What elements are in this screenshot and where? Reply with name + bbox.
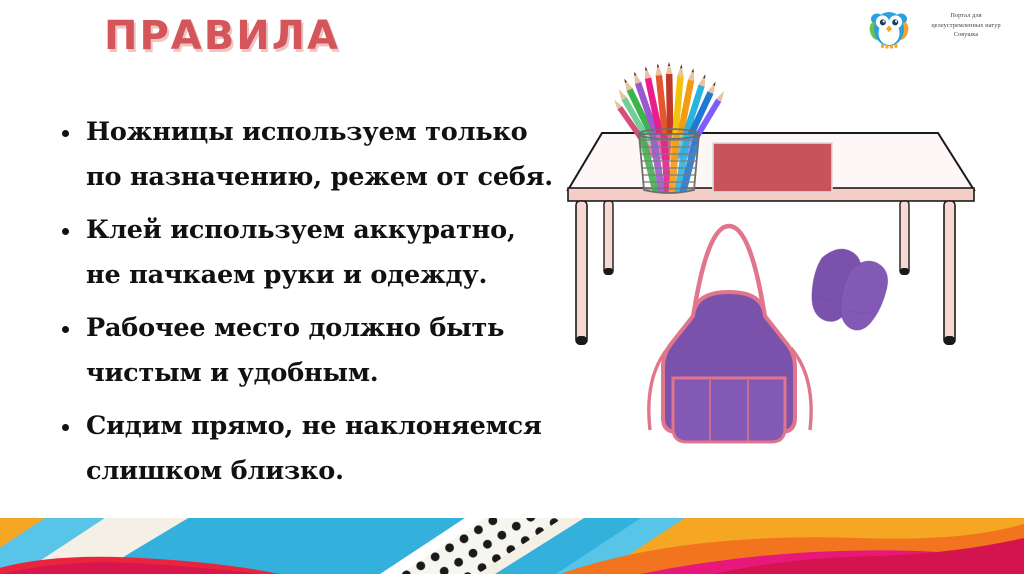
logo-line-2: целеустремленных натур <box>916 21 1016 31</box>
logo-text: Портал для целеустремленных натур Совушк… <box>916 11 1016 40</box>
owl-icon <box>866 7 912 49</box>
site-logo[interactable]: Портал для целеустремленных натур Совушк… <box>866 6 1018 50</box>
sleeve-protectors <box>812 249 888 330</box>
list-item: Клей используем аккуратно, не пачкаем ру… <box>54 208 554 298</box>
page-title: ПРАВИЛА <box>104 16 340 56</box>
logo-line-3: Совушка <box>916 30 1016 40</box>
colored-paper-strip <box>0 518 1024 574</box>
list-item: Рабочее место должно быть чистым и удобн… <box>54 306 554 396</box>
logo-line-1: Портал для <box>916 11 1016 21</box>
purple-apron <box>649 226 811 442</box>
craft-workspace-illustration <box>560 58 1010 498</box>
red-paper-sheet <box>713 143 832 192</box>
rules-list: Ножницы используем только по назначению,… <box>54 110 554 502</box>
list-item: Ножницы используем только по назначению,… <box>54 110 554 200</box>
slide-canvas: ПРАВИЛА Портал для целеустремленных нату… <box>0 0 1024 574</box>
list-item: Сидим прямо, не наклоняемся слишком близ… <box>54 404 554 494</box>
